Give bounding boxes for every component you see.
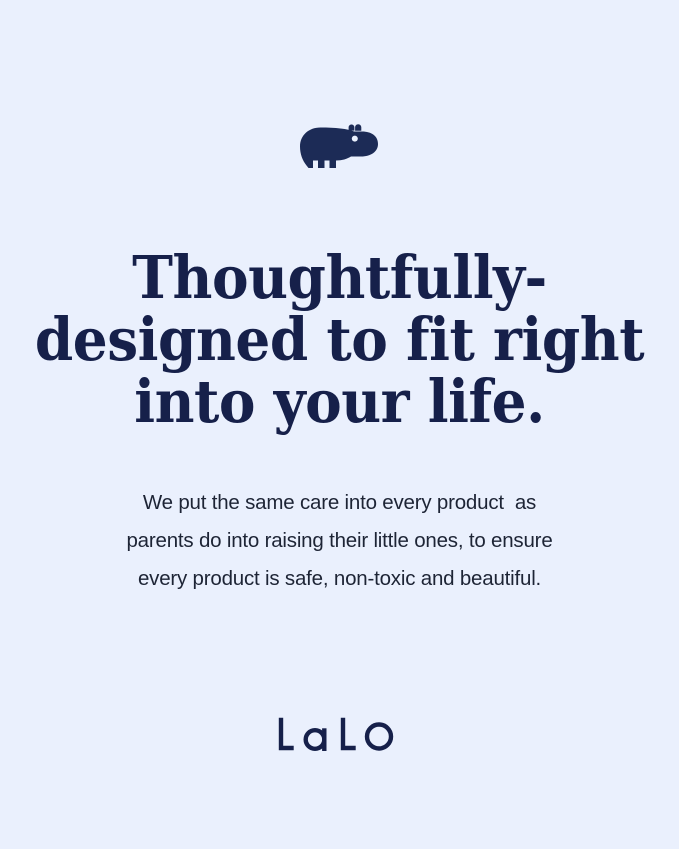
headline-line-1: Thoughtfully- — [24, 247, 655, 309]
headline-line-2: designed to fit right — [24, 309, 655, 371]
promo-card: Thoughtfully- designed to fit right into… — [0, 0, 679, 849]
page-title: Thoughtfully- designed to fit right into… — [24, 247, 655, 433]
hippo-icon — [295, 118, 385, 174]
body-line-3: every product is safe, non-toxic and bea… — [75, 560, 605, 598]
headline-line-3: into your life. — [24, 371, 655, 433]
body-line-2: parents do into raising their little one… — [75, 522, 605, 560]
lalo-wordmark — [275, 710, 405, 758]
body-paragraph: We put the same care into every product … — [75, 484, 605, 598]
body-line-1: We put the same care into every product … — [75, 484, 605, 522]
